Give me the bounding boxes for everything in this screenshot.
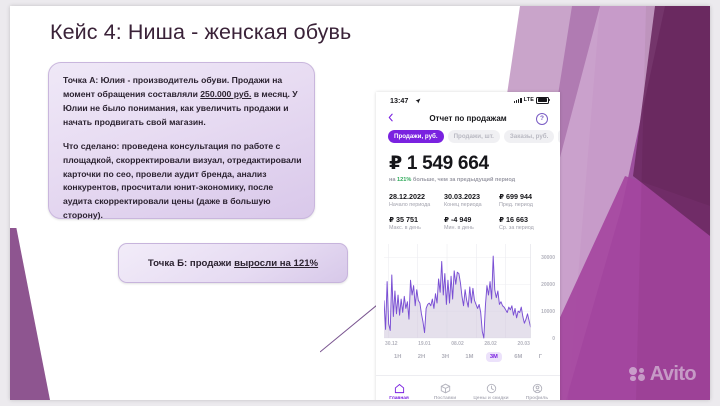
stat-label: Мин. в день bbox=[444, 225, 495, 231]
range-1m[interactable]: 1М bbox=[461, 352, 477, 362]
range-1n[interactable]: 1Н bbox=[390, 352, 405, 362]
delta-suffix: больше, чем за предыдущий период bbox=[411, 177, 515, 183]
para1-highlight: 250.000 руб. bbox=[200, 89, 251, 99]
range-3n[interactable]: 3Н bbox=[438, 352, 453, 362]
chart-y-tick: 10000 bbox=[541, 309, 555, 315]
text-box-point-a-body: Точка А: Юлия - производитель обуви. Про… bbox=[63, 74, 302, 223]
phone-screenshot: 13:47 LTE Отчет по продажам ? Продажи, р… bbox=[376, 92, 560, 400]
chip-sales-units[interactable]: Продажи, шт. bbox=[448, 130, 500, 143]
chart-y-tick: 20000 bbox=[541, 282, 555, 288]
chip-overflow[interactable]: З bbox=[558, 130, 560, 143]
app-nav-bar: Отчет по продажам ? bbox=[376, 109, 560, 128]
battery-icon bbox=[536, 97, 549, 105]
tab-label: Поставки bbox=[434, 396, 456, 400]
left-purple-wedge bbox=[10, 228, 50, 400]
tab-profile[interactable]: Профиль bbox=[514, 376, 560, 400]
help-icon[interactable]: ? bbox=[536, 113, 548, 125]
tab-label: Цены и скидки bbox=[473, 396, 508, 400]
chart-x-axis-labels: 30.1219.0108.0228.0220.03 bbox=[385, 341, 530, 347]
status-bar: 13:47 LTE bbox=[376, 92, 560, 109]
slide-root: Кейс 4: Ниша - женская обувь Точка А: Юл… bbox=[0, 0, 720, 406]
text-box-point-b: Точка Б: продажи выросли на 121% bbox=[118, 243, 348, 283]
stats-grid: 28.12.2022Начало периода 30.03.2023Конец… bbox=[389, 192, 560, 231]
stat-value: 28.12.2022 bbox=[389, 192, 440, 201]
tab-supplies[interactable]: Поставки bbox=[422, 376, 468, 400]
text-box-point-a: Точка А: Юлия - производитель обуви. Про… bbox=[48, 62, 315, 219]
chart-x-tick: 30.12 bbox=[385, 341, 398, 347]
stat-label: Макс. в день bbox=[389, 225, 440, 231]
network-label: LTE bbox=[524, 97, 534, 103]
metric-chip-group: Продажи, руб. Продажи, шт. Заказы, руб. … bbox=[376, 128, 560, 143]
page-title: Кейс 4: Ниша - женская обувь bbox=[50, 20, 351, 45]
stat-label: Пред. период bbox=[499, 202, 550, 208]
delta-caption: на 121% больше, чем за предыдущий период bbox=[389, 177, 560, 183]
signal-icon bbox=[514, 97, 522, 103]
stat-label: Ср. за период bbox=[499, 225, 550, 231]
profile-icon bbox=[532, 383, 543, 394]
chart-y-tick: 0 bbox=[552, 336, 555, 342]
text-box-point-b-body: Точка Б: продажи выросли на 121% bbox=[148, 258, 318, 269]
stat-item: ₽ 699 944Пред. период bbox=[499, 192, 550, 208]
stat-item: ₽ -4 949Мин. в день bbox=[444, 215, 495, 231]
stat-item: ₽ 16 663Ср. за период bbox=[499, 215, 550, 231]
chart-x-tick: 08.02 bbox=[451, 341, 464, 347]
box-icon bbox=[440, 383, 451, 394]
stat-label: Начало периода bbox=[389, 202, 440, 208]
status-bar-indicators: LTE bbox=[514, 97, 549, 105]
tab-home[interactable]: Главная bbox=[376, 376, 422, 400]
chart-x-tick: 28.02 bbox=[484, 341, 497, 347]
stat-value: ₽ 699 944 bbox=[499, 192, 550, 201]
stat-label: Конец периода bbox=[444, 202, 495, 208]
home-icon bbox=[394, 383, 405, 394]
avito-logo-icon bbox=[629, 367, 646, 382]
stat-value: ₽ 35 751 bbox=[389, 215, 440, 224]
chip-sales-rub[interactable]: Продажи, руб. bbox=[388, 130, 444, 143]
range-year[interactable]: Г bbox=[535, 352, 546, 362]
stat-item: ₽ 35 751Макс. в день bbox=[389, 215, 440, 231]
bottom-tab-bar: Главная Поставки Цены и скидки Профиль bbox=[376, 375, 560, 400]
stat-value: 30.03.2023 bbox=[444, 192, 495, 201]
range-2n[interactable]: 2Н bbox=[414, 352, 429, 362]
delta-percent: 121% bbox=[397, 177, 411, 183]
tab-label: Профиль bbox=[526, 396, 548, 400]
sales-chart: 0100002000030000 bbox=[384, 240, 554, 340]
range-3m[interactable]: 3М bbox=[486, 352, 502, 362]
stat-item: 28.12.2022Начало периода bbox=[389, 192, 440, 208]
chip-orders-rub[interactable]: Заказы, руб. bbox=[504, 130, 554, 143]
paragraph-point-a: Точка А: Юлия - производитель обуви. Про… bbox=[63, 74, 302, 130]
delta-prefix: на bbox=[389, 177, 397, 183]
chart-y-axis-labels: 0100002000030000 bbox=[529, 240, 555, 340]
tab-label: Главная bbox=[389, 396, 409, 400]
currency-symbol: ₽ bbox=[389, 153, 402, 174]
time-range-selector: 1Н 2Н 3Н 1М 3М 6М Г bbox=[390, 352, 546, 362]
range-6m[interactable]: 6М bbox=[510, 352, 526, 362]
point-b-prefix: Точка Б: продажи bbox=[148, 258, 234, 269]
stat-value: ₽ 16 663 bbox=[499, 215, 550, 224]
location-arrow-icon bbox=[415, 98, 421, 104]
headline-value: ₽ 1 549 664 bbox=[389, 152, 560, 175]
slide-card: Кейс 4: Ниша - женская обувь Точка А: Юл… bbox=[10, 6, 710, 400]
paragraph-what-was-done: Что сделано: проведена консультация по р… bbox=[63, 140, 302, 224]
app-screen-title: Отчет по продажам bbox=[376, 114, 560, 123]
watermark-text: Avito bbox=[650, 364, 696, 384]
point-b-highlight: выросли на 121% bbox=[234, 258, 318, 269]
chart-y-tick: 30000 bbox=[541, 255, 555, 261]
avito-watermark: Avito bbox=[629, 364, 696, 384]
tab-prices-discounts[interactable]: Цены и скидки bbox=[468, 376, 514, 400]
headline-amount: 1 549 664 bbox=[407, 153, 489, 174]
chart-x-tick: 20.03 bbox=[517, 341, 530, 347]
stat-value: ₽ -4 949 bbox=[444, 215, 495, 224]
chart-x-tick: 19.01 bbox=[418, 341, 431, 347]
stat-item: 30.03.2023Конец периода bbox=[444, 192, 495, 208]
status-bar-time: 13:47 bbox=[390, 96, 408, 105]
tag-icon bbox=[486, 383, 497, 394]
